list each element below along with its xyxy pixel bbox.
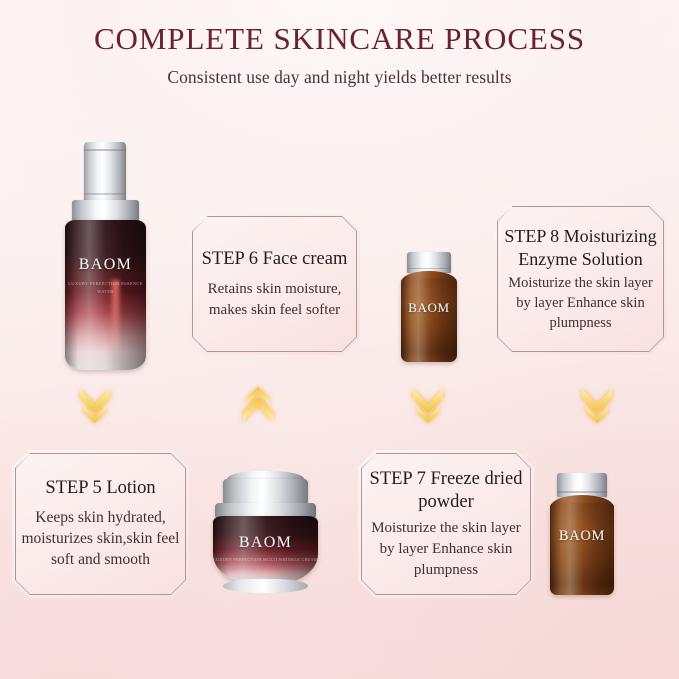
step-card-6-heading: STEP 6 Face cream: [197, 248, 352, 271]
serum-cap: [84, 142, 126, 204]
page-subtitle: Consistent use day and night yields bett…: [0, 67, 679, 88]
arrow-up-icon: [236, 382, 280, 428]
jar-subtext: LUXURY PERFECTION MULTI WRINKLE CREAM: [213, 556, 318, 564]
vial-body: [550, 503, 614, 595]
step-card-6-description: Retains skin moisture, makes skin feel s…: [197, 279, 352, 320]
vial-cap: [407, 252, 451, 273]
step-card-8-content: STEP 8 Moisturizing Enzyme Solution Mois…: [502, 225, 659, 333]
step-card-6-content: STEP 6 Face cream Retains skin moisture,…: [197, 248, 352, 321]
vial-brand-label: BAOM: [546, 528, 618, 545]
product-serum-bottle: BAOM LUXURY PERFECTION ESSENCE WATER: [57, 142, 154, 370]
vial-cap: [557, 473, 607, 497]
jar-brand-label: BAOM: [213, 534, 318, 552]
jar-base: [223, 579, 308, 593]
page-title: COMPLETE SKINCARE PROCESS: [0, 21, 679, 57]
product-cream-jar: BAOM LUXURY PERFECTION MULTI WRINKLE CRE…: [209, 471, 322, 593]
serum-brand-label: BAOM: [65, 256, 146, 274]
product-amber-vial-bottom: BAOM: [546, 473, 618, 595]
infographic-header: COMPLETE SKINCARE PROCESS Consistent use…: [0, 0, 679, 88]
serum-body: BAOM LUXURY PERFECTION ESSENCE WATER: [65, 220, 146, 370]
vial-body: [401, 278, 457, 362]
step-card-8-heading: STEP 8 Moisturizing Enzyme Solution: [502, 225, 659, 270]
step-card-5-description: Keeps skin hydrated, moisturizes skin,sk…: [20, 507, 181, 571]
serum-neck: [72, 200, 139, 222]
arrow-down-icon: [73, 382, 117, 428]
step-card-7-description: Moisturize the skin layer by layer Enhan…: [366, 518, 526, 580]
step-card-5[interactable]: STEP 5 Lotion Keeps skin hydrated, moist…: [12, 450, 189, 598]
step-card-8-description: Moisturize the skin layer by layer Enhan…: [502, 273, 659, 333]
step-card-6[interactable]: STEP 6 Face cream Retains skin moisture,…: [189, 213, 360, 355]
arrow-down-icon: [575, 382, 619, 428]
step-card-7[interactable]: STEP 7 Freeze dried powder Moisturize th…: [358, 450, 534, 598]
step-card-5-heading: STEP 5 Lotion: [20, 477, 181, 500]
step-card-8[interactable]: STEP 8 Moisturizing Enzyme Solution Mois…: [494, 203, 667, 355]
jar-body: BAOM LUXURY PERFECTION MULTI WRINKLE CRE…: [213, 516, 318, 584]
serum-subtext: LUXURY PERFECTION ESSENCE WATER: [65, 280, 146, 297]
step-card-7-heading: STEP 7 Freeze dried powder: [366, 468, 526, 515]
vial-brand-label: BAOM: [398, 300, 460, 316]
step-card-5-content: STEP 5 Lotion Keeps skin hydrated, moist…: [20, 477, 181, 570]
arrow-down-icon: [406, 382, 450, 428]
product-amber-vial-top: BAOM: [398, 252, 460, 362]
step-card-7-content: STEP 7 Freeze dried powder Moisturize th…: [366, 468, 526, 581]
